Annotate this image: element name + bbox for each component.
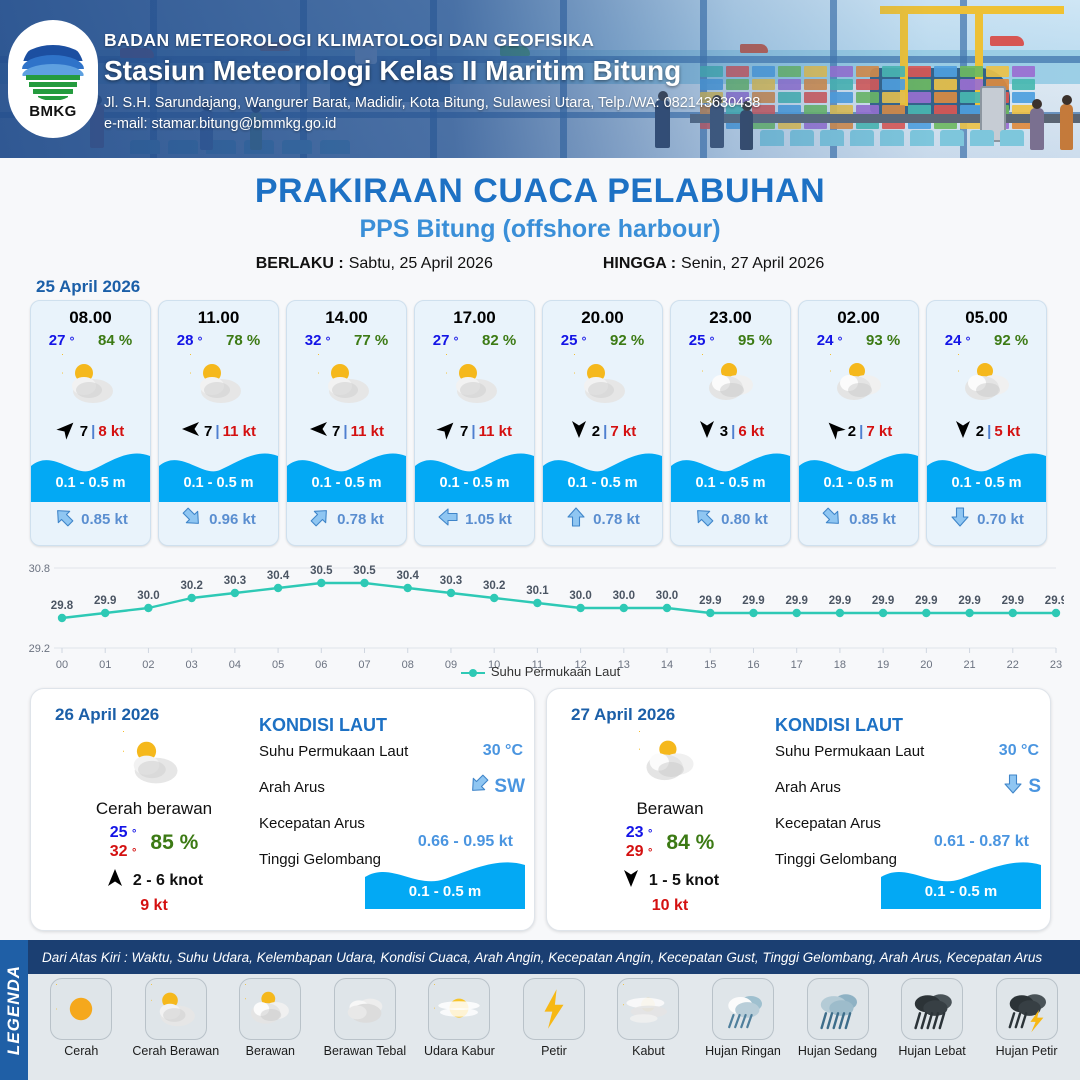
legend-side-label: LEGENDA xyxy=(4,965,24,1055)
card-wave-block: 0.1 - 0.5 m xyxy=(159,444,278,502)
current-direction-value: SW xyxy=(494,776,525,798)
wave-height-value: 0.1 - 0.5 m xyxy=(365,883,525,900)
wind-direction-arrow-icon xyxy=(181,419,201,444)
legend-item-label: Hujan Ringan xyxy=(697,1044,789,1058)
card-temperature: 25 ° xyxy=(561,332,587,349)
wave-height-value: 0.1 - 0.5 m xyxy=(31,475,150,491)
legend-item-label: Udara Kabur xyxy=(413,1044,505,1058)
card-weather-icon xyxy=(415,352,534,414)
day-summary: Cerah berawan 25 ° 32 ° 85 % 2 - 6 knot … xyxy=(49,731,259,915)
wind-direction-value: 3 xyxy=(720,423,728,440)
legend-item-icon-overcast-icon xyxy=(334,978,396,1040)
svg-text:29.9: 29.9 xyxy=(1002,595,1024,607)
legend-item-label: Berawan Tebal xyxy=(319,1044,411,1058)
current-direction-value: S xyxy=(1028,776,1041,798)
forecast-card: 23.00 25 ° 95 % 3 | 6 kt 0.1 - 0.5 m 0.8… xyxy=(670,300,791,546)
legend-item: Kabut xyxy=(602,978,694,1058)
card-weather-icon xyxy=(543,352,662,414)
sea-row-wave-height: Tinggi Gelombang 0.1 - 0.5 m xyxy=(259,849,529,905)
wind-separator: | xyxy=(91,423,95,440)
hourly-forecast-cards: 08.00 27 ° 84 % 7 | 8 kt 0.1 - 0.5 m 0.8… xyxy=(30,300,1050,546)
card-time: 17.00 xyxy=(415,308,534,328)
legend-item-icon-heavy-rain-icon xyxy=(901,978,963,1040)
svg-text:29.9: 29.9 xyxy=(94,595,116,607)
wind-direction-arrow-icon xyxy=(309,419,329,444)
svg-text:30.3: 30.3 xyxy=(440,575,462,587)
current-speed-value: 1.05 kt xyxy=(465,511,512,528)
sea-row-current-speed: Kecepatan Arus 0.61 - 0.87 kt xyxy=(775,813,1045,849)
wind-direction-arrow-icon xyxy=(437,419,457,444)
current-speed-value: 0.78 kt xyxy=(593,511,640,528)
sea-row-current-direction: Arah Arus S xyxy=(775,777,1045,813)
wind-direction-arrow-icon xyxy=(57,419,77,444)
card-temperature: 27 ° xyxy=(433,332,459,349)
wind-direction-arrow-icon xyxy=(697,419,717,444)
legend-item-icon-haze-icon xyxy=(428,978,490,1040)
sea-row-label: Tinggi Gelombang xyxy=(259,851,381,868)
day-sea-conditions: KONDISI LAUT Suhu Permukaan Laut 30 °C A… xyxy=(775,715,1045,905)
legend-item: Udara Kabur xyxy=(413,978,505,1058)
current-direction-arrow-icon xyxy=(565,506,587,533)
wind-speed-value: 6 kt xyxy=(738,423,764,440)
page-header: BMKG BADAN METEOROLOGI KLIMATOLOGI DAN G… xyxy=(0,0,1080,158)
legend-item: Petir xyxy=(508,978,600,1058)
wind-direction-value: 7 xyxy=(460,423,468,440)
card-weather-icon xyxy=(799,352,918,414)
card-time: 23.00 xyxy=(671,308,790,328)
card-wave-block: 0.1 - 0.5 m xyxy=(671,444,790,502)
svg-text:29.8: 29.8 xyxy=(51,600,74,612)
sea-conditions-header: KONDISI LAUT xyxy=(775,715,1045,736)
legend-strip: LEGENDA Dari Atas Kiri : Waktu, Suhu Uda… xyxy=(0,940,1080,1080)
wind-separator: | xyxy=(343,423,347,440)
day-temp-min: 23 ° xyxy=(626,824,653,842)
current-direction-arrow-icon xyxy=(181,506,203,533)
sea-row-label: Kecepatan Arus xyxy=(259,815,365,832)
wind-speed-value: 5 kt xyxy=(994,423,1020,440)
legend-item-icon-cloudy-sun-icon xyxy=(239,978,301,1040)
organisation-name: BADAN METEOROLOGI KLIMATOLOGI DAN GEOFIS… xyxy=(104,30,760,51)
bmkg-logo: BMKG xyxy=(8,20,98,138)
legend-item-icon-lightning-icon xyxy=(523,978,585,1040)
card-weather-icon xyxy=(31,352,150,414)
card-time: 05.00 xyxy=(927,308,1046,328)
card-wave-block: 0.1 - 0.5 m xyxy=(415,444,534,502)
legend-item-icon-thunderstorm-icon xyxy=(996,978,1058,1040)
legend-item-label: Hujan Petir xyxy=(981,1044,1073,1058)
svg-text:30.1: 30.1 xyxy=(526,585,549,597)
svg-text:30.4: 30.4 xyxy=(267,570,290,582)
day-condition: Cerah berawan xyxy=(49,799,259,819)
wave-height-value: 0.1 - 0.5 m xyxy=(159,475,278,491)
legend-items: Cerah Cerah Berawan Berawan Berawan Teba… xyxy=(28,978,1080,1078)
wind-speed-value: 7 kt xyxy=(610,423,636,440)
day-wind-arrow-icon xyxy=(105,868,125,893)
day-wave-block: 0.1 - 0.5 m xyxy=(365,857,525,909)
valid-from: BERLAKU :Sabtu, 25 April 2026 xyxy=(256,255,493,273)
svg-text:30.3: 30.3 xyxy=(224,575,246,587)
wind-speed-value: 11 kt xyxy=(223,423,256,440)
sea-row-label: Suhu Permukaan Laut xyxy=(775,743,924,760)
wind-direction-arrow-icon xyxy=(953,419,973,444)
station-email: e-mail: stamar.bitung@bmmkg.go.id xyxy=(104,116,760,132)
day-weather-icon xyxy=(565,731,775,793)
current-direction-arrow-icon xyxy=(53,506,75,533)
day-gust: 9 kt xyxy=(49,897,259,915)
page-title: PRAKIRAAN CUACA PELABUHAN xyxy=(0,172,1080,211)
card-temperature: 27 ° xyxy=(49,332,75,349)
legend-item: Cerah Berawan xyxy=(130,978,222,1058)
day-temp-max: 29 ° xyxy=(626,843,653,861)
sea-row-current-speed: Kecepatan Arus 0.66 - 0.95 kt xyxy=(259,813,529,849)
card-temperature: 32 ° xyxy=(305,332,331,349)
legend-item-icon-sun-icon xyxy=(50,978,112,1040)
sea-row-label: Arah Arus xyxy=(259,779,325,796)
bmkg-logo-text: BMKG xyxy=(29,103,76,120)
legend-item: Hujan Sedang xyxy=(792,978,884,1058)
svg-text:30.8: 30.8 xyxy=(29,563,50,575)
wind-direction-value: 7 xyxy=(80,423,88,440)
card-humidity: 95 % xyxy=(738,332,772,349)
svg-text:30.2: 30.2 xyxy=(483,580,505,592)
station-name: Stasiun Meteorologi Kelas II Maritim Bit… xyxy=(104,55,760,87)
wind-direction-value: 7 xyxy=(204,423,212,440)
card-wave-block: 0.1 - 0.5 m xyxy=(287,444,406,502)
sst-chart: 30.829.200010203040506070809101112131415… xyxy=(16,556,1064,678)
header-text-block: BADAN METEOROLOGI KLIMATOLOGI DAN GEOFIS… xyxy=(104,30,760,132)
svg-text:30.0: 30.0 xyxy=(613,590,635,602)
page-subtitle: PPS Bitung (offshore harbour) xyxy=(0,215,1080,244)
current-speed-value: 0.85 kt xyxy=(849,511,896,528)
current-direction-arrow-icon xyxy=(1002,773,1024,800)
day-temperatures: 23 ° 29 ° xyxy=(626,824,653,861)
sea-row-label: Suhu Permukaan Laut xyxy=(259,743,408,760)
valid-from-value: Sabtu, 25 April 2026 xyxy=(349,255,493,272)
wind-direction-value: 2 xyxy=(592,423,600,440)
sea-row-value: 30 °C xyxy=(999,742,1039,760)
svg-text:30.0: 30.0 xyxy=(656,590,678,602)
wave-height-value: 0.1 - 0.5 m xyxy=(671,475,790,491)
legend-item: Cerah xyxy=(35,978,127,1058)
sea-row-wave-height: Tinggi Gelombang 0.1 - 0.5 m xyxy=(775,849,1045,905)
legend-item: Berawan Tebal xyxy=(319,978,411,1058)
day-temp-min: 25 ° xyxy=(110,824,137,842)
sea-conditions-header: KONDISI LAUT xyxy=(259,715,529,736)
day-wind-arrow-icon xyxy=(621,868,641,893)
card-weather-icon xyxy=(287,352,406,414)
forecast-date-label: 25 April 2026 xyxy=(36,277,140,297)
sea-row-current-direction: Arah Arus SW xyxy=(259,777,529,813)
wind-speed-value: 8 kt xyxy=(98,423,124,440)
legend-item-label: Hujan Sedang xyxy=(792,1044,884,1058)
wave-height-value: 0.1 - 0.5 m xyxy=(881,883,1041,900)
card-humidity: 92 % xyxy=(610,332,644,349)
legend-item: Berawan xyxy=(224,978,316,1058)
forecast-card: 11.00 28 ° 78 % 7 | 11 kt 0.1 - 0.5 m 0.… xyxy=(158,300,279,546)
card-temperature: 24 ° xyxy=(945,332,971,349)
card-humidity: 77 % xyxy=(354,332,388,349)
chart-legend-label: Suhu Permukaan Laut xyxy=(491,664,620,679)
svg-text:30.0: 30.0 xyxy=(569,590,591,602)
current-speed-value: 0.78 kt xyxy=(337,511,384,528)
legend-note-bar: Dari Atas Kiri : Waktu, Suhu Udara, Kele… xyxy=(28,940,1080,974)
legend-item-label: Berawan xyxy=(224,1044,316,1058)
svg-text:29.9: 29.9 xyxy=(699,595,721,607)
card-humidity: 82 % xyxy=(482,332,516,349)
wind-speed-value: 7 kt xyxy=(866,423,892,440)
day-date: 26 April 2026 xyxy=(55,705,159,725)
wind-separator: | xyxy=(859,423,863,440)
card-temperature: 25 ° xyxy=(689,332,715,349)
day-humidity: 84 % xyxy=(666,831,714,855)
wind-direction-value: 2 xyxy=(976,423,984,440)
day-wind-range: 1 - 5 knot xyxy=(649,872,719,890)
day-weather-icon xyxy=(49,731,259,793)
forecast-card: 05.00 24 ° 92 % 2 | 5 kt 0.1 - 0.5 m 0.7… xyxy=(926,300,1047,546)
valid-until-label: HINGGA : xyxy=(603,255,676,272)
sea-row-label: Arah Arus xyxy=(775,779,841,796)
day-wind-range: 2 - 6 knot xyxy=(133,872,203,890)
current-speed-value: 0.80 kt xyxy=(721,511,768,528)
current-direction-arrow-icon xyxy=(437,506,459,533)
wind-direction-arrow-icon xyxy=(825,419,845,444)
day-temperatures: 25 ° 32 ° xyxy=(110,824,137,861)
legend-note: Dari Atas Kiri : Waktu, Suhu Udara, Kele… xyxy=(42,950,1042,965)
svg-text:30.2: 30.2 xyxy=(181,580,203,592)
sea-row-sst: Suhu Permukaan Laut 30 °C xyxy=(775,741,1045,777)
day-date: 27 April 2026 xyxy=(571,705,675,725)
wave-height-value: 0.1 - 0.5 m xyxy=(799,475,918,491)
svg-text:29.9: 29.9 xyxy=(872,595,894,607)
card-humidity: 78 % xyxy=(226,332,260,349)
day-summary: Berawan 23 ° 29 ° 84 % 1 - 5 knot 10 kt xyxy=(565,731,775,915)
wind-separator: | xyxy=(987,423,991,440)
day-gust: 10 kt xyxy=(565,897,775,915)
card-wave-block: 0.1 - 0.5 m xyxy=(799,444,918,502)
wave-height-value: 0.1 - 0.5 m xyxy=(543,475,662,491)
card-humidity: 84 % xyxy=(98,332,132,349)
card-time: 20.00 xyxy=(543,308,662,328)
svg-text:29.9: 29.9 xyxy=(829,595,851,607)
card-temperature: 24 ° xyxy=(817,332,843,349)
card-time: 14.00 xyxy=(287,308,406,328)
valid-until-value: Senin, 27 April 2026 xyxy=(681,255,824,272)
card-time: 02.00 xyxy=(799,308,918,328)
day-panel-27: 27 April 2026 Berawan 23 ° 29 ° 84 % 1 -… xyxy=(546,688,1051,931)
day-temp-max: 32 ° xyxy=(110,843,137,861)
svg-text:30.4: 30.4 xyxy=(397,570,420,582)
svg-text:29.9: 29.9 xyxy=(1045,595,1064,607)
wave-height-value: 0.1 - 0.5 m xyxy=(287,475,406,491)
card-wave-block: 0.1 - 0.5 m xyxy=(927,444,1046,502)
legend-item: Hujan Petir xyxy=(981,978,1073,1058)
card-weather-icon xyxy=(159,352,278,414)
valid-until: HINGGA :Senin, 27 April 2026 xyxy=(603,255,824,273)
svg-text:30.5: 30.5 xyxy=(310,565,333,577)
svg-text:29.9: 29.9 xyxy=(958,595,980,607)
legend-item-label: Cerah Berawan xyxy=(130,1044,222,1058)
current-speed-value: 0.96 kt xyxy=(209,511,256,528)
wind-separator: | xyxy=(731,423,735,440)
legend-item-icon-fog-icon xyxy=(617,978,679,1040)
bmkg-logo-mark xyxy=(22,39,84,101)
current-speed-value: 0.70 kt xyxy=(977,511,1024,528)
legend-item-icon-light-rain-icon xyxy=(712,978,774,1040)
sea-row-value: 30 °C xyxy=(483,742,523,760)
svg-text:30.0: 30.0 xyxy=(137,590,159,602)
wave-height-value: 0.1 - 0.5 m xyxy=(415,475,534,491)
svg-text:30.5: 30.5 xyxy=(353,565,376,577)
svg-text:29.9: 29.9 xyxy=(742,595,764,607)
legend-item: Hujan Lebat xyxy=(886,978,978,1058)
day-sea-conditions: KONDISI LAUT Suhu Permukaan Laut 30 °C A… xyxy=(259,715,529,905)
forecast-card: 14.00 32 ° 77 % 7 | 11 kt 0.1 - 0.5 m 0.… xyxy=(286,300,407,546)
validity-row: BERLAKU :Sabtu, 25 April 2026 HINGGA :Se… xyxy=(0,255,1080,273)
wind-separator: | xyxy=(471,423,475,440)
legend-item-label: Hujan Lebat xyxy=(886,1044,978,1058)
wave-height-value: 0.1 - 0.5 m xyxy=(927,475,1046,491)
svg-text:29.9: 29.9 xyxy=(915,595,937,607)
legend-item-label: Kabut xyxy=(602,1044,694,1058)
card-humidity: 93 % xyxy=(866,332,900,349)
chart-legend-marker xyxy=(460,668,486,678)
day-humidity: 85 % xyxy=(150,831,198,855)
current-direction-arrow-icon xyxy=(949,506,971,533)
forecast-card: 08.00 27 ° 84 % 7 | 8 kt 0.1 - 0.5 m 0.8… xyxy=(30,300,151,546)
sea-row-sst: Suhu Permukaan Laut 30 °C xyxy=(259,741,529,777)
card-weather-icon xyxy=(927,352,1046,414)
card-weather-icon xyxy=(671,352,790,414)
wind-direction-arrow-icon xyxy=(569,419,589,444)
valid-from-label: BERLAKU : xyxy=(256,255,344,272)
current-direction-arrow-icon xyxy=(821,506,843,533)
card-temperature: 28 ° xyxy=(177,332,203,349)
legend-item: Hujan Ringan xyxy=(697,978,789,1058)
wind-speed-value: 11 kt xyxy=(351,423,384,440)
current-direction-arrow-icon xyxy=(309,506,331,533)
wind-speed-value: 11 kt xyxy=(479,423,512,440)
sea-row-label: Tinggi Gelombang xyxy=(775,851,897,868)
card-humidity: 92 % xyxy=(994,332,1028,349)
wind-separator: | xyxy=(603,423,607,440)
legend-item-label: Cerah xyxy=(35,1044,127,1058)
current-direction-arrow-icon xyxy=(693,506,715,533)
wind-direction-value: 7 xyxy=(332,423,340,440)
wind-direction-value: 2 xyxy=(848,423,856,440)
legend-side-tab: LEGENDA xyxy=(0,940,28,1080)
legend-item-icon-moderate-rain-icon xyxy=(807,978,869,1040)
card-wave-block: 0.1 - 0.5 m xyxy=(31,444,150,502)
svg-text:29.2: 29.2 xyxy=(29,643,50,655)
card-time: 11.00 xyxy=(159,308,278,328)
day-condition: Berawan xyxy=(565,799,775,819)
card-time: 08.00 xyxy=(31,308,150,328)
forecast-card: 20.00 25 ° 92 % 2 | 7 kt 0.1 - 0.5 m 0.7… xyxy=(542,300,663,546)
sea-row-label: Kecepatan Arus xyxy=(775,815,881,832)
current-direction-arrow-icon xyxy=(468,773,490,800)
legend-item-icon-partly-cloudy-icon xyxy=(145,978,207,1040)
station-address: Jl. S.H. Sarundajang, Wangurer Barat, Ma… xyxy=(104,95,760,111)
wind-separator: | xyxy=(215,423,219,440)
chart-legend: Suhu Permukaan Laut xyxy=(0,664,1080,679)
forecast-card: 02.00 24 ° 93 % 2 | 7 kt 0.1 - 0.5 m 0.8… xyxy=(798,300,919,546)
legend-item-label: Petir xyxy=(508,1044,600,1058)
current-speed-value: 0.85 kt xyxy=(81,511,128,528)
card-wave-block: 0.1 - 0.5 m xyxy=(543,444,662,502)
day-panel-26: 26 April 2026 Cerah berawan 25 ° 32 ° 85… xyxy=(30,688,535,931)
svg-text:29.9: 29.9 xyxy=(786,595,808,607)
day-wave-block: 0.1 - 0.5 m xyxy=(881,857,1041,909)
forecast-card: 17.00 27 ° 82 % 7 | 11 kt 0.1 - 0.5 m 1.… xyxy=(414,300,535,546)
